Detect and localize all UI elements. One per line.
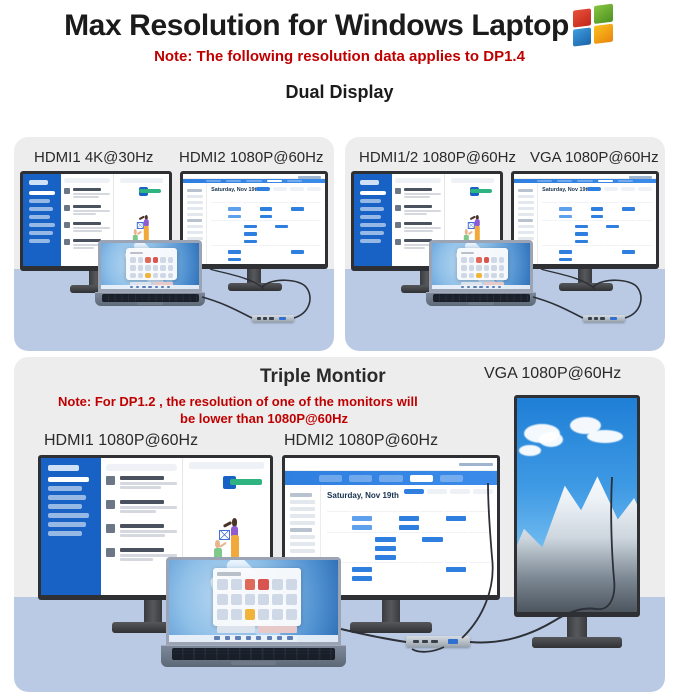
triple-monitor-note-line2: be lower than 1080P@60Hz bbox=[180, 411, 348, 426]
laptop-keyboard[interactable] bbox=[95, 292, 205, 306]
triple-monitor-note: Note: For DP1.2 , the resolution of one … bbox=[58, 394, 418, 409]
screen-windows11 bbox=[101, 243, 199, 289]
label-hdmi2-1080p: HDMI2 1080P@60Hz bbox=[179, 149, 323, 166]
monitor-hdmi2: Saturday, Nov 19th bbox=[180, 171, 328, 269]
label-hdmi2-1080p: HDMI2 1080P@60Hz bbox=[284, 432, 438, 450]
laptop-device bbox=[166, 557, 341, 667]
laptop-keyboard[interactable] bbox=[161, 645, 347, 667]
monitor-base bbox=[559, 283, 613, 291]
label-vga-1080p: VGA 1080P@60Hz bbox=[484, 365, 621, 383]
laptop-device bbox=[98, 240, 202, 306]
screen-mountain-wallpaper bbox=[517, 398, 637, 612]
header: Max Resolution for Windows Laptop bbox=[0, 4, 679, 48]
taskbar[interactable] bbox=[432, 285, 530, 289]
monitor-neck bbox=[567, 617, 587, 639]
laptop-lid bbox=[98, 240, 202, 292]
calendar-grid[interactable] bbox=[542, 196, 652, 262]
monitor-vga bbox=[514, 395, 640, 617]
calendar-view-switch[interactable] bbox=[256, 187, 321, 191]
monitor-base bbox=[532, 637, 622, 648]
page-root: Max Resolution for Windows Laptop Note: … bbox=[0, 0, 679, 696]
calendar-view-switch[interactable] bbox=[587, 187, 652, 191]
mail-sidebar bbox=[41, 458, 101, 595]
laptop-device bbox=[429, 240, 533, 306]
start-menu[interactable] bbox=[213, 568, 301, 625]
screen-windows11 bbox=[169, 560, 338, 642]
label-hdmi1-4k: HDMI1 4K@30Hz bbox=[34, 149, 153, 166]
taskbar[interactable] bbox=[101, 285, 199, 289]
monitor-vga: Saturday, Nov 19th bbox=[511, 171, 659, 269]
mail-sidebar bbox=[354, 174, 392, 266]
laptop-lid bbox=[429, 240, 533, 292]
calendar-grid[interactable] bbox=[211, 196, 321, 262]
label-hdmi1-1080p: HDMI1 1080P@60Hz bbox=[44, 432, 198, 450]
monitor-neck bbox=[144, 600, 162, 624]
header-note: Note: The following resolution data appl… bbox=[0, 48, 679, 65]
monitor-base bbox=[228, 283, 282, 291]
calendar-grid[interactable] bbox=[327, 503, 491, 582]
usb-hub bbox=[583, 315, 625, 322]
usb-hub bbox=[252, 315, 294, 322]
triple-monitor-title: Triple Montior bbox=[260, 366, 386, 388]
screen-calendar: Saturday, Nov 19th bbox=[514, 174, 656, 264]
calendar-tabs[interactable] bbox=[285, 471, 497, 485]
monitor-base bbox=[350, 622, 432, 633]
calendar-view-switch[interactable] bbox=[404, 489, 493, 494]
usb-hub bbox=[406, 636, 470, 647]
start-menu[interactable] bbox=[126, 248, 177, 280]
screen-calendar: Saturday, Nov 19th bbox=[183, 174, 325, 264]
mail-sidebar bbox=[23, 174, 61, 266]
monitor-neck bbox=[382, 600, 400, 624]
label-hdmi12-1080p: HDMI1/2 1080P@60Hz bbox=[359, 149, 516, 166]
laptop-keyboard[interactable] bbox=[426, 292, 536, 306]
triple-monitor-panel: Triple Montior Note: For DP1.2 , the res… bbox=[14, 357, 665, 692]
laptop-lid bbox=[166, 557, 341, 645]
start-menu[interactable] bbox=[457, 248, 508, 280]
screen-windows11 bbox=[432, 243, 530, 289]
dual-display-right-panel: HDMI1/2 1080P@60Hz VGA 1080P@60Hz bbox=[345, 137, 665, 351]
page-title: Max Resolution for Windows Laptop bbox=[64, 9, 569, 43]
dual-display-left-panel: HDMI1 4K@30Hz HDMI2 1080P@60Hz bbox=[14, 137, 334, 351]
dual-display-subtitle: Dual Display bbox=[0, 82, 679, 103]
windows-logo-icon bbox=[573, 3, 615, 48]
label-vga-1080p: VGA 1080P@60Hz bbox=[530, 149, 659, 166]
taskbar[interactable] bbox=[169, 635, 338, 642]
